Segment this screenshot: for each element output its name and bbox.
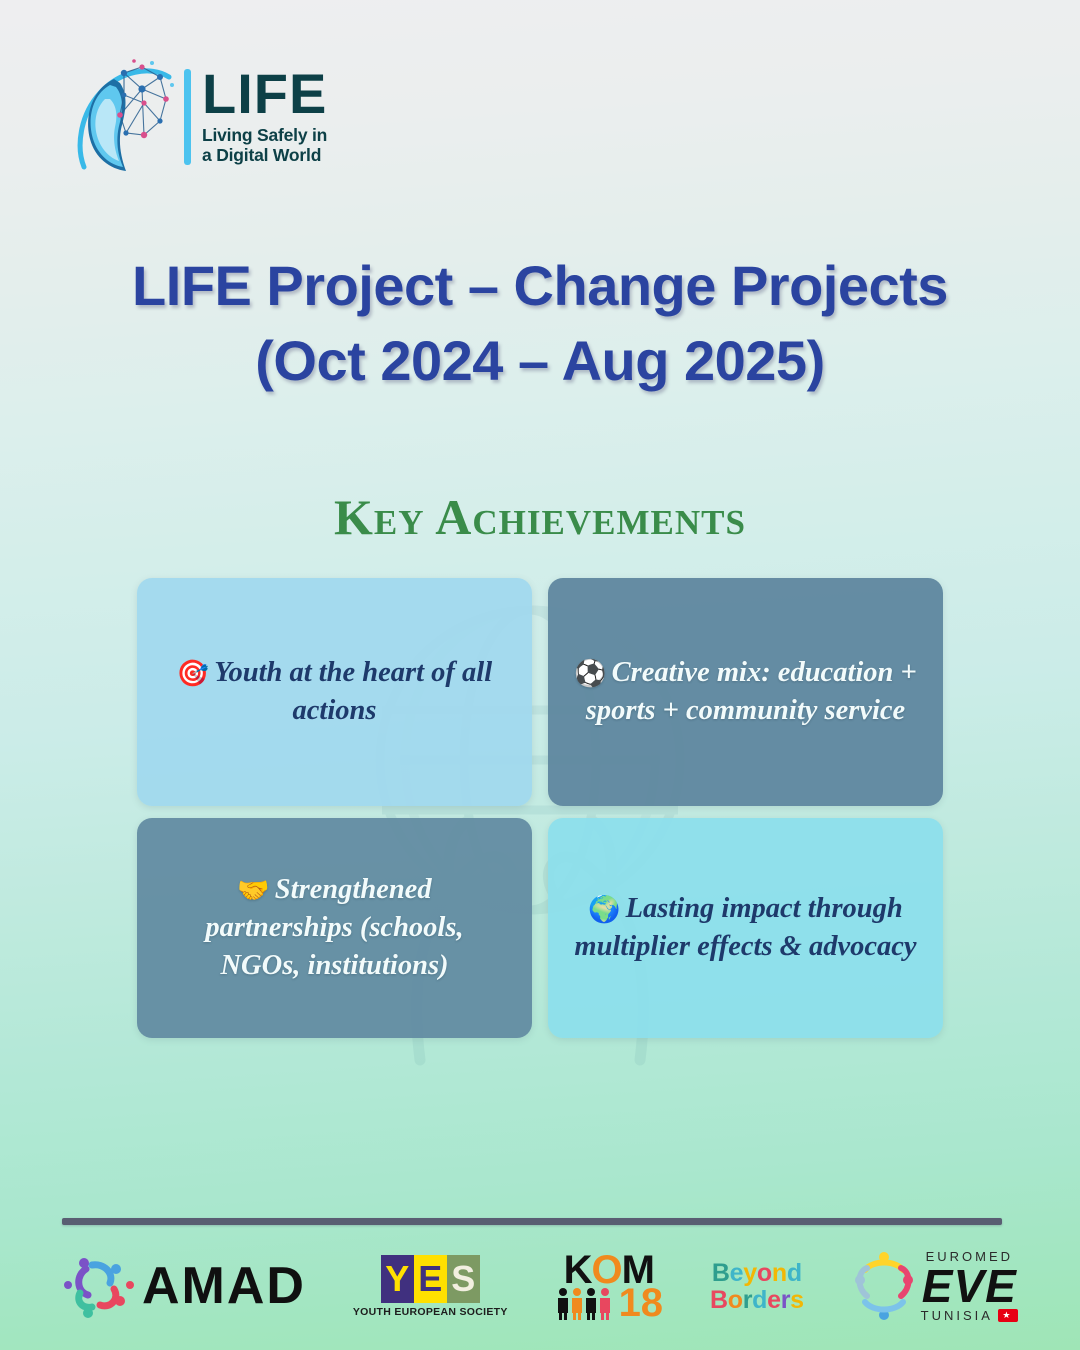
partner-logo-kom18: KOM 18 [555,1243,664,1329]
yes-subtitle: YOUTH EUROPEAN SOCIETY [353,1306,508,1318]
achievement-card-4: 🌍Lasting impact through multiplier effec… [548,818,943,1038]
achievement-text-4: 🌍Lasting impact through multiplier effec… [574,890,917,966]
achievement-label-4: Lasting impact through multiplier effect… [574,893,916,962]
logo-divider [184,69,191,165]
page-title: LIFE Project – Change Projects (Oct 2024… [0,248,1080,398]
logo-tagline-line2: a Digital World [202,145,327,165]
section-heading: Key Achievements [0,488,1080,546]
kom-number: 18 [619,1285,664,1321]
tunisia-flag-icon: ★ [998,1309,1018,1322]
handshake-icon: 🤝 [237,876,269,906]
soccer-ball-icon: ⚽ [574,659,606,689]
yes-letter-e: E [414,1255,447,1303]
page-title-line1: LIFE Project – Change Projects [0,248,1080,323]
beyond-borders-line2: Borders [710,1287,804,1313]
logo-wordmark: LIFE [202,68,327,120]
partner-logo-beyond-borders: Beyond Borders [710,1243,804,1329]
euromed-bottom-label: TUNISIA [921,1309,993,1322]
partner-logo-amad: AMAD [62,1243,306,1329]
achievement-label-1: Youth at the heart of all actions [214,657,492,726]
page-title-line2: (Oct 2024 – Aug 2025) [0,323,1080,398]
amad-people-swirl-icon [62,1249,136,1323]
achievement-card-3: 🤝Strengthened partnerships (schools, NGO… [137,818,532,1038]
achievement-label-2: Creative mix: education + sports + commu… [586,657,917,726]
partner-logo-euromed-eve: EUROMED EVE TUNISIA ★ [851,1243,1018,1329]
euromed-eve-wordmark: EVE [922,1263,1017,1309]
yes-blocks-icon: Y E S [381,1255,480,1303]
target-icon: 🎯 [177,659,209,689]
yes-letter-y: Y [381,1255,414,1303]
kom-people-icon [555,1287,615,1321]
achievement-text-1: 🎯Youth at the heart of all actions [163,654,506,730]
footer-divider [62,1218,1002,1225]
achievements-grid: 🎯Youth at the heart of all actions ⚽Crea… [137,578,943,1038]
logo-tagline-line1: Living Safely in [202,125,327,145]
yes-letter-s: S [447,1255,480,1303]
euromed-people-icon [851,1250,917,1322]
partner-logos: AMAD Y E S YOUTH EUROPEAN SOCIETY KOM [62,1240,1018,1332]
achievement-text-2: ⚽Creative mix: education + sports + comm… [574,654,917,730]
achievement-card-1: 🎯Youth at the heart of all actions [137,578,532,806]
globe-icon: 🌍 [588,895,620,925]
amad-wordmark: AMAD [142,1260,306,1312]
partner-logo-yes: Y E S YOUTH EUROPEAN SOCIETY [353,1243,508,1329]
head-network-icon [74,55,180,180]
beyond-borders-line1: Beyond [712,1260,802,1286]
life-logo: LIFE Living Safely in a Digital World [74,52,344,182]
achievement-text-3: 🤝Strengthened partnerships (schools, NGO… [163,871,506,985]
achievement-card-2: ⚽Creative mix: education + sports + comm… [548,578,943,806]
